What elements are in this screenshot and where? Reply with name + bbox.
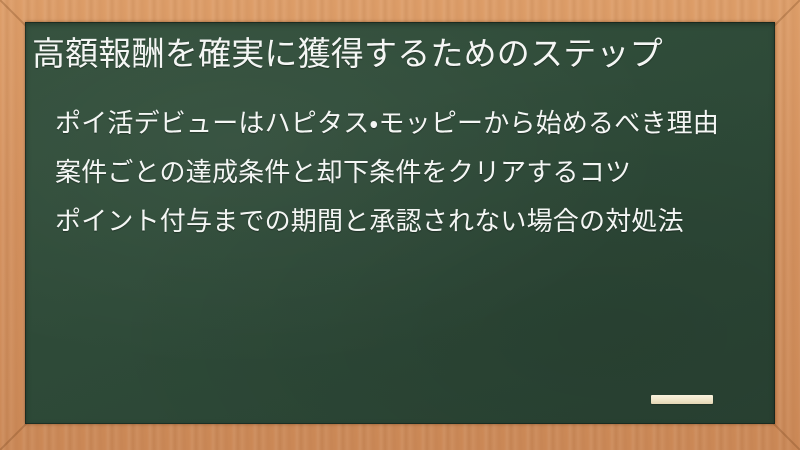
board-list-item: 案件ごとの達成条件と却下条件をクリアするコツ <box>55 151 757 193</box>
board-list-item: ポイ活デビューはハピタス・モッピーから始めるべき理由 <box>55 102 757 144</box>
board-item-list: ポイ活デビューはハピタス・モッピーから始めるべき理由 案件ごとの達成条件と却下条… <box>32 102 757 242</box>
chalk-stick <box>651 395 713 404</box>
chalkboard: 高額報酬を確実に獲得するためのステップ ポイ活デビューはハピタス・モッピーから始… <box>25 22 775 424</box>
board-title: 高額報酬を確実に獲得するためのステップ <box>32 32 757 76</box>
wooden-frame: 高額報酬を確実に獲得するためのステップ ポイ活デビューはハピタス・モッピーから始… <box>0 0 800 450</box>
board-list-item: ポイント付与までの期間と承認されない場合の対処法 <box>55 200 757 242</box>
